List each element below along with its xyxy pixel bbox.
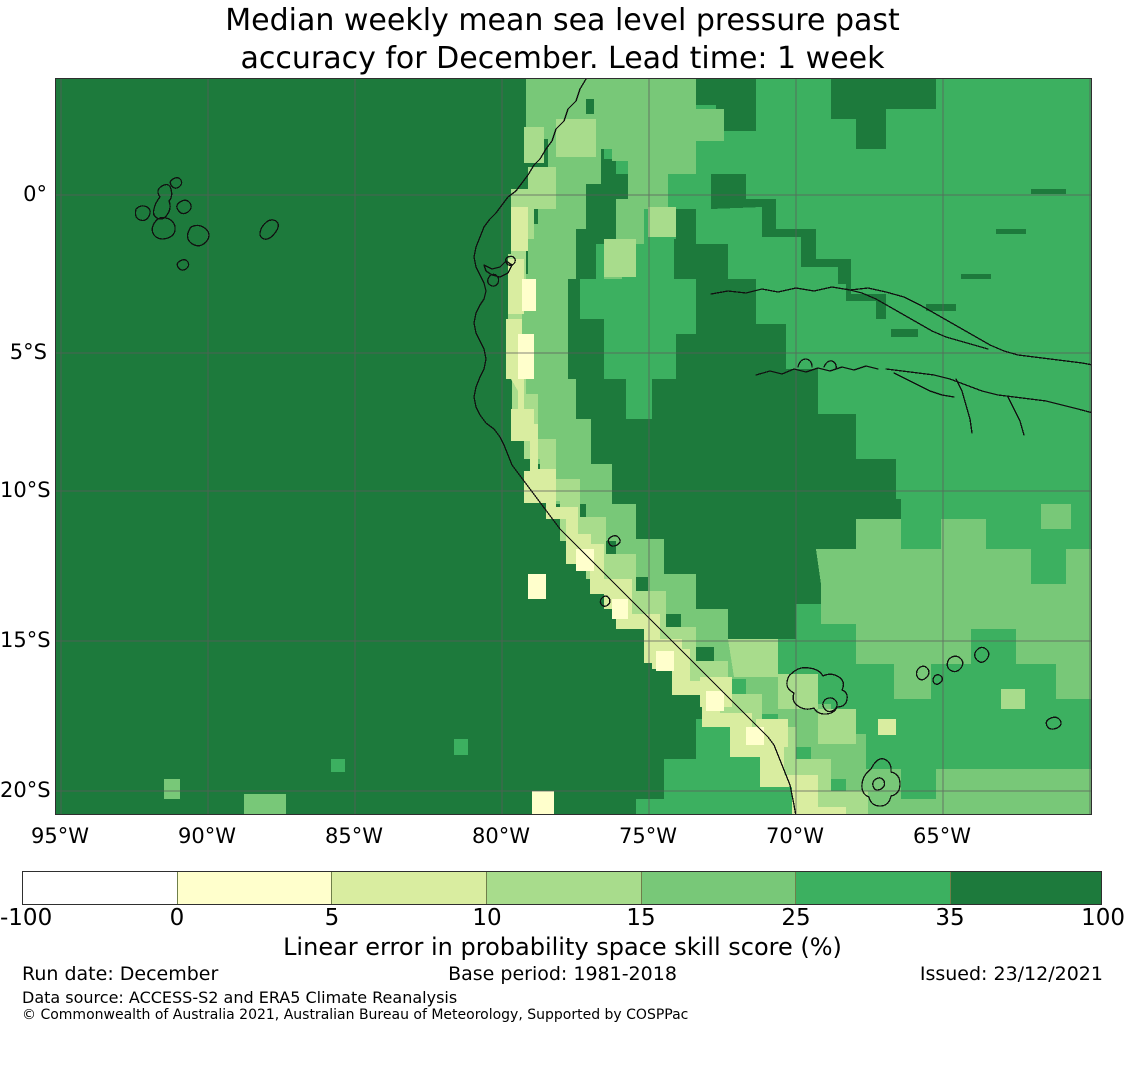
colorbar-title: Linear error in probability space skill … xyxy=(0,933,1125,961)
y-tick-0: 0° xyxy=(0,182,47,206)
footer-data-source: Data source: ACCESS-S2 and ERA5 Climate … xyxy=(22,988,457,1007)
y-axis-ticks: 0° 5°S 10°S 15°S 20°S xyxy=(0,0,1125,1)
colorbar-tick-25: 25 xyxy=(781,905,810,931)
page-title-line-2: accuracy for December. Lead time: 1 week xyxy=(0,40,1125,78)
page-title: Median weekly mean sea level pressure pa… xyxy=(0,0,1125,78)
colorbar-segment-10-15 xyxy=(487,872,642,904)
colorbar-segment-25-35 xyxy=(796,872,951,904)
colorbar[interactable] xyxy=(22,871,1102,905)
y-tick-5s: 5°S xyxy=(0,340,47,364)
map-plot-area[interactable] xyxy=(55,78,1092,815)
x-tick-85w: 85°W xyxy=(325,824,383,848)
y-tick-20s: 20°S xyxy=(0,778,47,802)
colorbar-tick-15: 15 xyxy=(626,905,655,931)
colorbar-segment-35-100 xyxy=(951,872,1101,904)
x-tick-75w: 75°W xyxy=(619,824,677,848)
y-tick-15s: 15°S xyxy=(0,628,47,652)
colorbar-tick-5: 5 xyxy=(325,905,340,931)
colorbar-tick-35: 35 xyxy=(935,905,964,931)
colorbar-segment-neg100-0 xyxy=(23,872,178,904)
y-tick-10s: 10°S xyxy=(0,478,47,502)
page-title-line-1: Median weekly mean sea level pressure pa… xyxy=(0,2,1125,40)
x-tick-95w: 95°W xyxy=(31,824,89,848)
x-tick-80w: 80°W xyxy=(472,824,530,848)
colorbar-tick-neg100: -100 xyxy=(0,905,52,931)
colorbar-tick-0: 0 xyxy=(170,905,185,931)
colorbar-segment-15-25 xyxy=(642,872,797,904)
colorbar-tick-100: 100 xyxy=(1081,905,1125,931)
footer-issued-date: Issued: 23/12/2021 xyxy=(920,963,1103,985)
colorbar-segment-0-5 xyxy=(178,872,333,904)
colorbar-segment-5-10 xyxy=(332,872,487,904)
skill-score-heatmap xyxy=(56,79,1092,815)
x-tick-90w: 90°W xyxy=(178,824,236,848)
x-tick-65w: 65°W xyxy=(913,824,971,848)
x-tick-70w: 70°W xyxy=(766,824,824,848)
colorbar-tick-10: 10 xyxy=(472,905,501,931)
footer-copyright: © Commonwealth of Australia 2021, Austra… xyxy=(22,1007,688,1023)
